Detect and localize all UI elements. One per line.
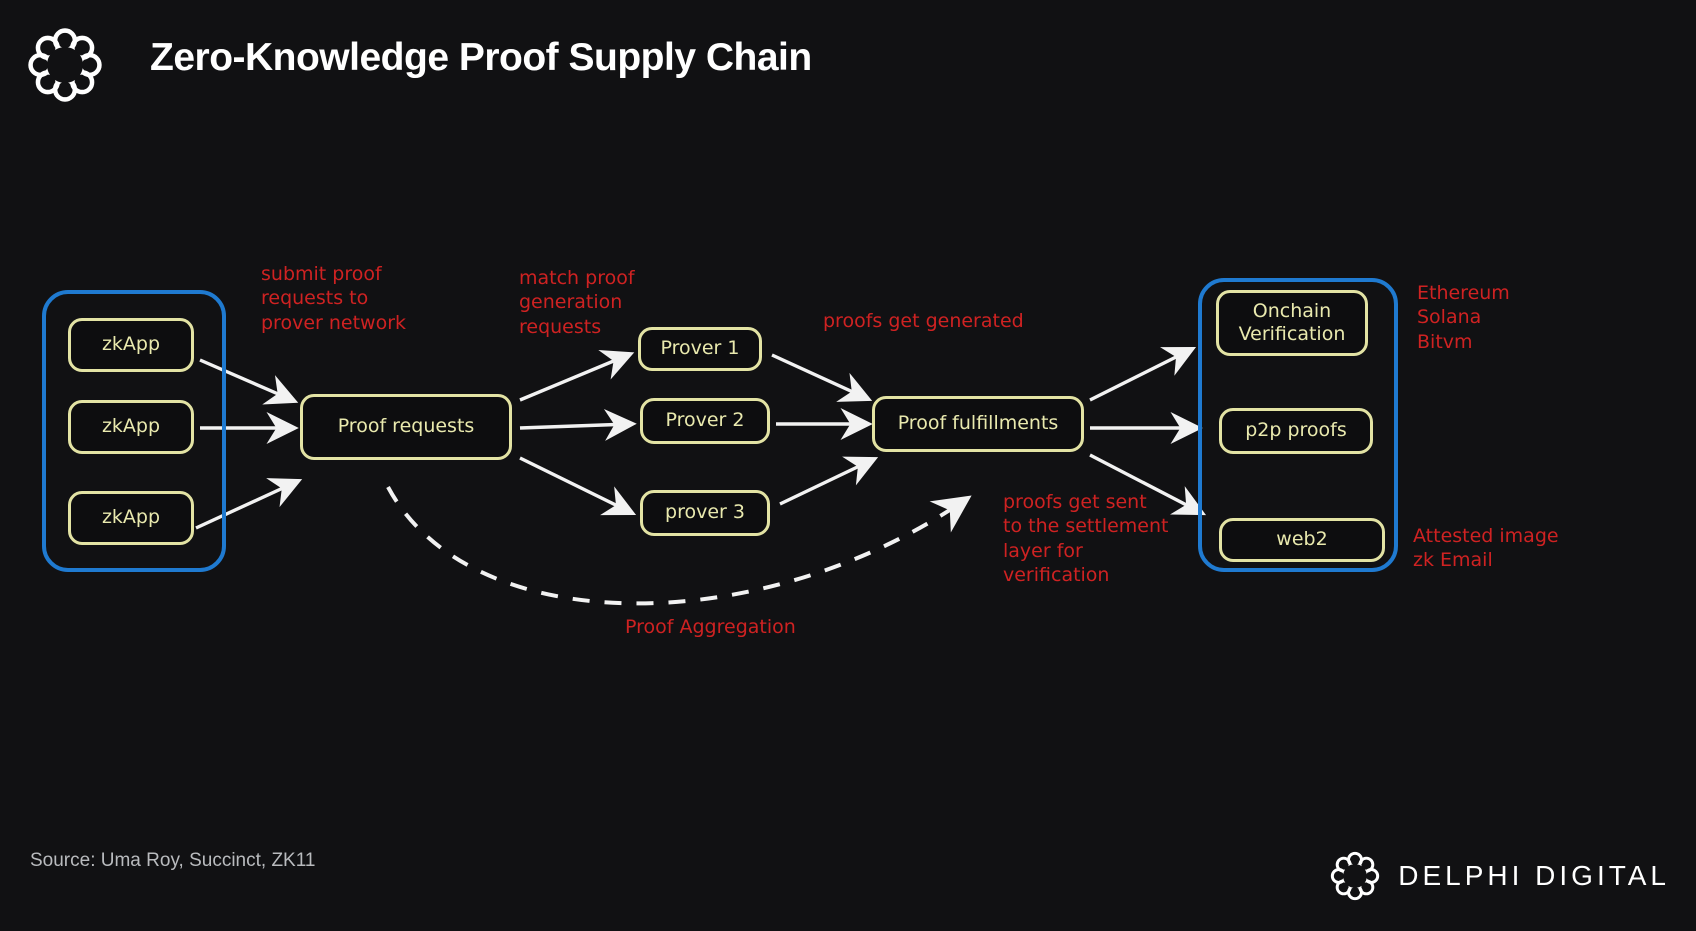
node-prover-3[interactable]: prover 3	[640, 490, 770, 536]
annotation-match-proof-generation: match proof generation requests	[519, 266, 635, 339]
node-proof-fulfillments[interactable]: Proof fulfillments	[872, 396, 1084, 452]
node-p2p-proofs[interactable]: p2p proofs	[1219, 408, 1373, 454]
edge-proofrequests-prover2	[520, 424, 630, 428]
annotation-proofs-get-generated: proofs get generated	[823, 309, 1024, 333]
annotation-chains-list: Ethereum Solana Bitvm	[1417, 281, 1510, 354]
edge-proofrequests-prover3	[520, 458, 630, 512]
footer-logo: DELPHI DIGITAL	[1328, 848, 1670, 904]
edge-proofrequests-prover1	[520, 355, 628, 400]
edge-layer	[0, 0, 1696, 931]
node-zkapp-2[interactable]: zkApp	[68, 400, 194, 454]
annotation-proofs-get-sent: proofs get sent to the settlement layer …	[1003, 490, 1168, 587]
node-prover-1[interactable]: Prover 1	[638, 327, 762, 371]
node-onchain-verification[interactable]: Onchain Verification	[1216, 290, 1368, 356]
delphi-knot-logo-icon	[1328, 849, 1382, 903]
node-zkapp-1[interactable]: zkApp	[68, 318, 194, 372]
node-prover-2[interactable]: Prover 2	[640, 398, 770, 444]
footer-wordmark: DELPHI DIGITAL	[1398, 860, 1670, 892]
edge-prover3-fulfillments	[780, 460, 872, 504]
edge-fulfillments-onchain	[1090, 350, 1190, 400]
edge-prover1-fulfillments	[772, 355, 866, 398]
annotation-attested-list: Attested image zk Email	[1413, 524, 1559, 573]
node-zkapp-3[interactable]: zkApp	[68, 491, 194, 545]
node-web2[interactable]: web2	[1219, 518, 1385, 562]
diagram-canvas: Zero-Knowledge Proof Supply Chain	[0, 0, 1696, 931]
annotation-proof-aggregation: Proof Aggregation	[625, 615, 796, 639]
flow-diagram: zkApp zkApp zkApp Proof requests Prover …	[0, 0, 1696, 931]
annotation-submit-proof-requests: submit proof requests to prover network	[261, 262, 406, 335]
node-proof-requests[interactable]: Proof requests	[300, 394, 512, 460]
source-note: Source: Uma Roy, Succinct, ZK11	[30, 850, 315, 872]
